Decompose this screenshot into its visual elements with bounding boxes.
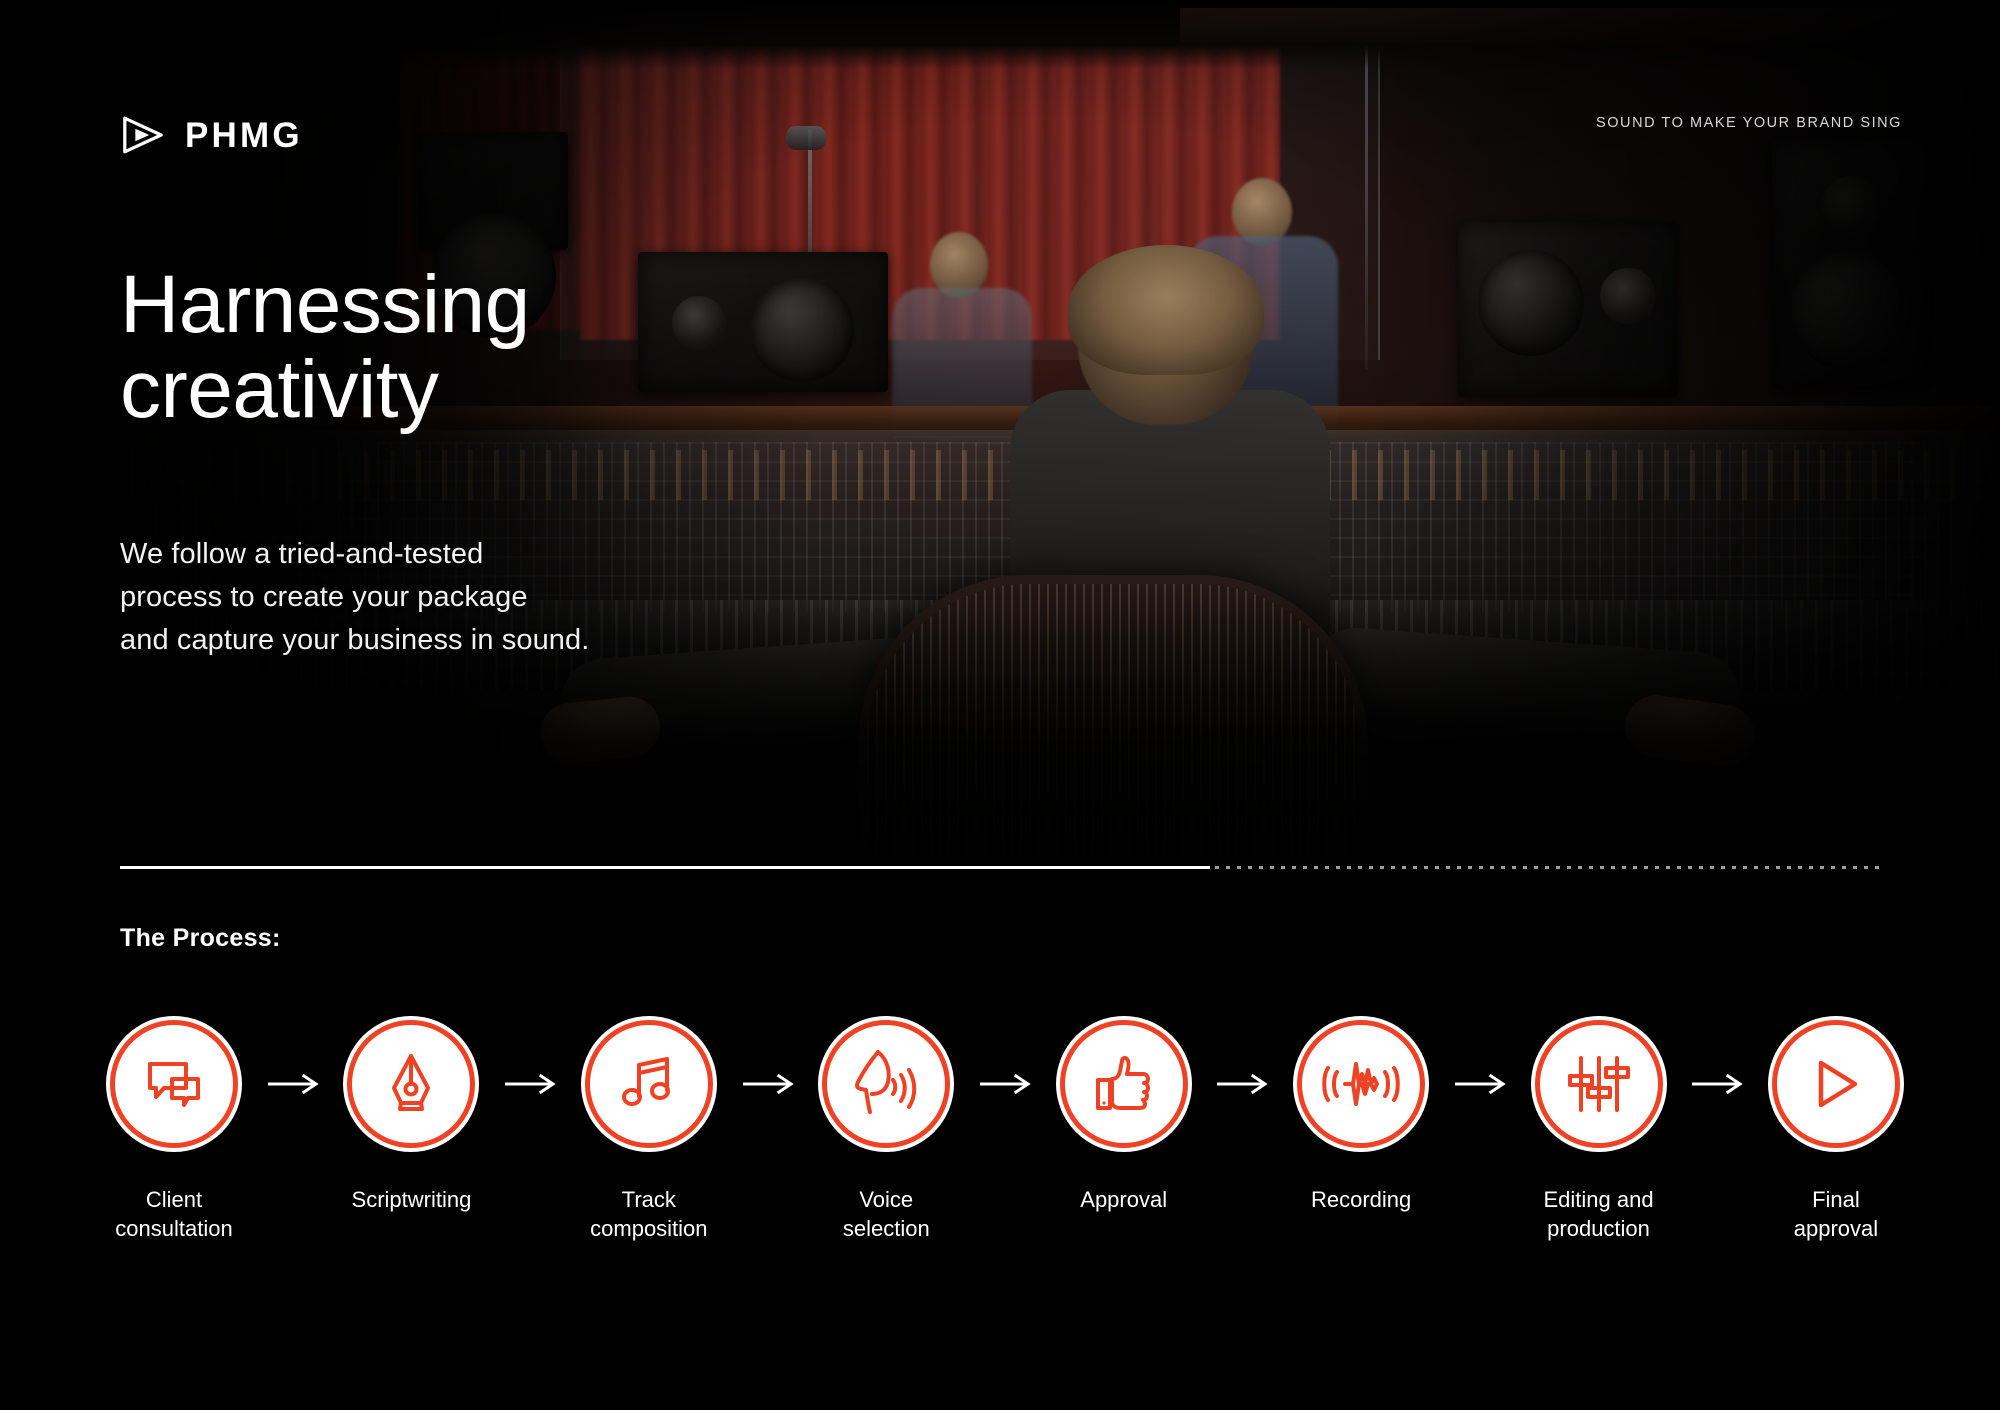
- process-section-title: The Process:: [120, 924, 281, 953]
- step-label: Editing and production: [1543, 1185, 1653, 1243]
- play-triangle-icon: [1803, 1051, 1869, 1117]
- process-step-final-approval[interactable]: Final approval: [1772, 1020, 1900, 1243]
- arrow-right-icon: [1188, 1020, 1297, 1148]
- pen-nib-icon: [375, 1048, 447, 1120]
- section-divider: [120, 866, 1880, 869]
- divider-solid-segment: [120, 866, 1210, 869]
- divider-dotted-segment: [1215, 866, 1880, 869]
- step-icon-circle: [1297, 1020, 1425, 1148]
- step-icon-circle: [347, 1020, 475, 1148]
- slide-canvas: PHMG SOUND TO MAKE YOUR BRAND SING Harne…: [0, 0, 2000, 1410]
- arrow-right-icon: [1663, 1020, 1772, 1148]
- step-icon-circle: [110, 1020, 238, 1148]
- process-step-editing-production[interactable]: Editing and production: [1535, 1020, 1663, 1243]
- step-label: Approval: [1080, 1185, 1167, 1214]
- sound-wave-icon: [1320, 1048, 1402, 1120]
- play-triangle-logo-icon: [120, 112, 166, 158]
- step-label: Scriptwriting: [352, 1185, 472, 1214]
- step-label: Recording: [1311, 1185, 1411, 1214]
- step-icon-circle: [822, 1020, 950, 1148]
- process-step-recording[interactable]: Recording: [1297, 1020, 1425, 1214]
- process-step-voice-selection[interactable]: Voice selection: [822, 1020, 950, 1243]
- speaking-head-icon: [848, 1046, 924, 1122]
- brand-tagline: SOUND TO MAKE YOUR BRAND SING: [1596, 115, 1902, 131]
- step-icon-circle: [1060, 1020, 1188, 1148]
- process-step-scriptwriting[interactable]: Scriptwriting: [347, 1020, 475, 1214]
- speech-bubbles-icon: [138, 1048, 210, 1120]
- step-label: Final approval: [1794, 1185, 1878, 1243]
- process-step-approval[interactable]: Approval: [1060, 1020, 1188, 1214]
- arrow-right-icon: [1425, 1020, 1534, 1148]
- arrow-right-icon: [950, 1020, 1059, 1148]
- process-step-client-consultation[interactable]: Client consultation: [110, 1020, 238, 1243]
- step-label: Track composition: [590, 1185, 707, 1243]
- step-label: Voice selection: [843, 1185, 930, 1243]
- process-step-track-composition[interactable]: Track composition: [585, 1020, 713, 1243]
- step-icon-circle: [585, 1020, 713, 1148]
- mixer-faders-icon: [1564, 1048, 1634, 1120]
- arrow-right-icon: [713, 1020, 822, 1148]
- logo-wordmark: PHMG: [185, 118, 303, 153]
- step-icon-circle: [1535, 1020, 1663, 1148]
- arrow-right-icon: [475, 1020, 584, 1148]
- phmg-logo[interactable]: PHMG: [120, 112, 303, 158]
- music-note-icon: [613, 1048, 685, 1120]
- process-steps: Client consultation Scriptwri: [110, 1020, 1900, 1243]
- step-icon-circle: [1772, 1020, 1900, 1148]
- thumbs-up-icon: [1088, 1048, 1160, 1120]
- page-title: Harnessing creativity: [120, 262, 530, 433]
- arrow-right-icon: [238, 1020, 347, 1148]
- step-label: Client consultation: [115, 1185, 232, 1243]
- hero-subheading: We follow a tried-and-tested process to …: [120, 533, 589, 662]
